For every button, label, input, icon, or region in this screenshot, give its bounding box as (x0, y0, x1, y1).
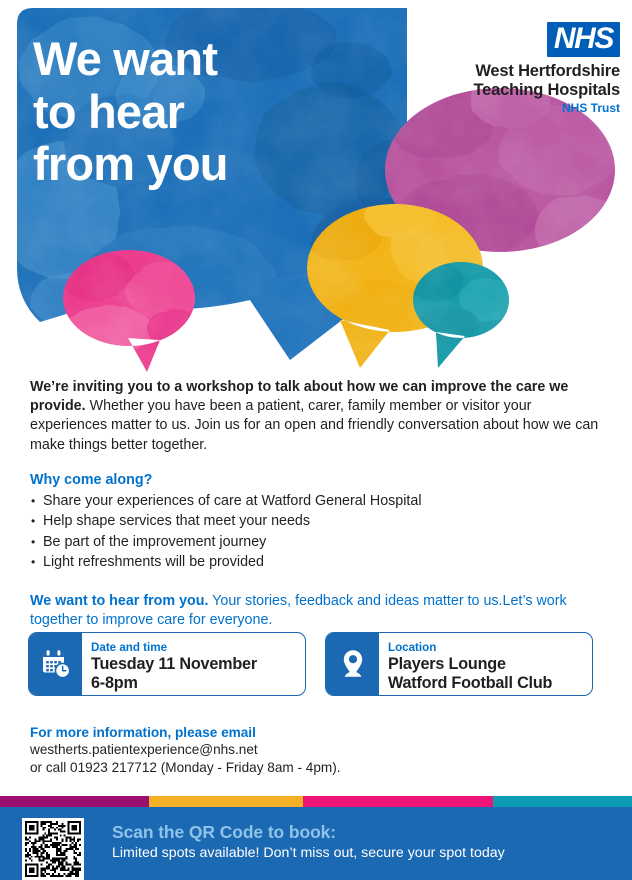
date-and-time-card: Date and time Tuesday 11 November 6-8pm (28, 632, 306, 696)
benefits-list: Share your experiences of care at Watfor… (30, 491, 608, 573)
nhs-logo-text: NHS (554, 24, 613, 54)
location-card-label: Location (388, 641, 592, 654)
footer-text-block: Scan the QR Code to book: Limited spots … (112, 822, 622, 863)
contact-phone: or call 01923 217712 (Monday - Friday 8a… (30, 759, 590, 777)
list-item: Be part of the improvement journey (30, 532, 608, 553)
location-card-body: Location Players Lounge Watford Football… (379, 633, 592, 695)
contact-heading: For more information, please email (30, 724, 590, 741)
intro-rest: Whether you have been a patient, carer, … (30, 398, 598, 452)
location-card: Location Players Lounge Watford Football… (325, 632, 593, 696)
list-item: Help shape services that meet your needs (30, 511, 608, 532)
cta-paragraph: We want to hear from you. Your stories, … (30, 592, 608, 631)
contact-email[interactable]: westherts.patientexperience@nhs.net (30, 741, 590, 759)
date-card-value: Tuesday 11 November 6-8pm (91, 655, 305, 692)
location-card-value: Players Lounge Watford Football Club (388, 655, 592, 692)
contact-block: For more information, please email westh… (30, 724, 590, 776)
color-stripe-row (0, 796, 632, 807)
intro-paragraph: We’re inviting you to a workshop to talk… (30, 378, 608, 455)
trust-name: West Hertfordshire Teaching Hospitals (430, 62, 620, 100)
list-item: Share your experiences of care at Watfor… (30, 491, 608, 512)
main-content: We’re inviting you to a workshop to talk… (30, 378, 608, 631)
date-card-label: Date and time (91, 641, 305, 654)
calendar-clock-icon (29, 633, 82, 695)
footer-banner: Scan the QR Code to book: Limited spots … (0, 796, 632, 880)
nhs-trust-logo: NHS West Hertfordshire Teaching Hospital… (430, 22, 620, 115)
info-cards: Date and time Tuesday 11 November 6-8pm … (28, 632, 608, 696)
stripe-purple (0, 796, 149, 807)
stripe-teal (493, 796, 632, 807)
why-come-along-heading: Why come along? (30, 472, 608, 488)
page-title: We want to hear from you (33, 33, 363, 191)
stripe-pink (303, 796, 493, 807)
footer-heading: Scan the QR Code to book: (112, 822, 622, 843)
footer-subheading: Limited spots available! Don’t miss out,… (112, 844, 622, 863)
location-pin-icon (326, 633, 379, 695)
qr-code[interactable] (22, 818, 84, 880)
list-item: Light refreshments will be provided (30, 552, 608, 573)
stripe-orange (149, 796, 304, 807)
trust-type: NHS Trust (430, 102, 620, 115)
date-card-body: Date and time Tuesday 11 November 6-8pm (82, 633, 305, 695)
nhs-logo-mark: NHS (547, 22, 620, 57)
hero-banner: We want to hear from you NHS West Hertfo… (0, 0, 632, 372)
cta-bold: We want to hear from you. (30, 593, 208, 609)
